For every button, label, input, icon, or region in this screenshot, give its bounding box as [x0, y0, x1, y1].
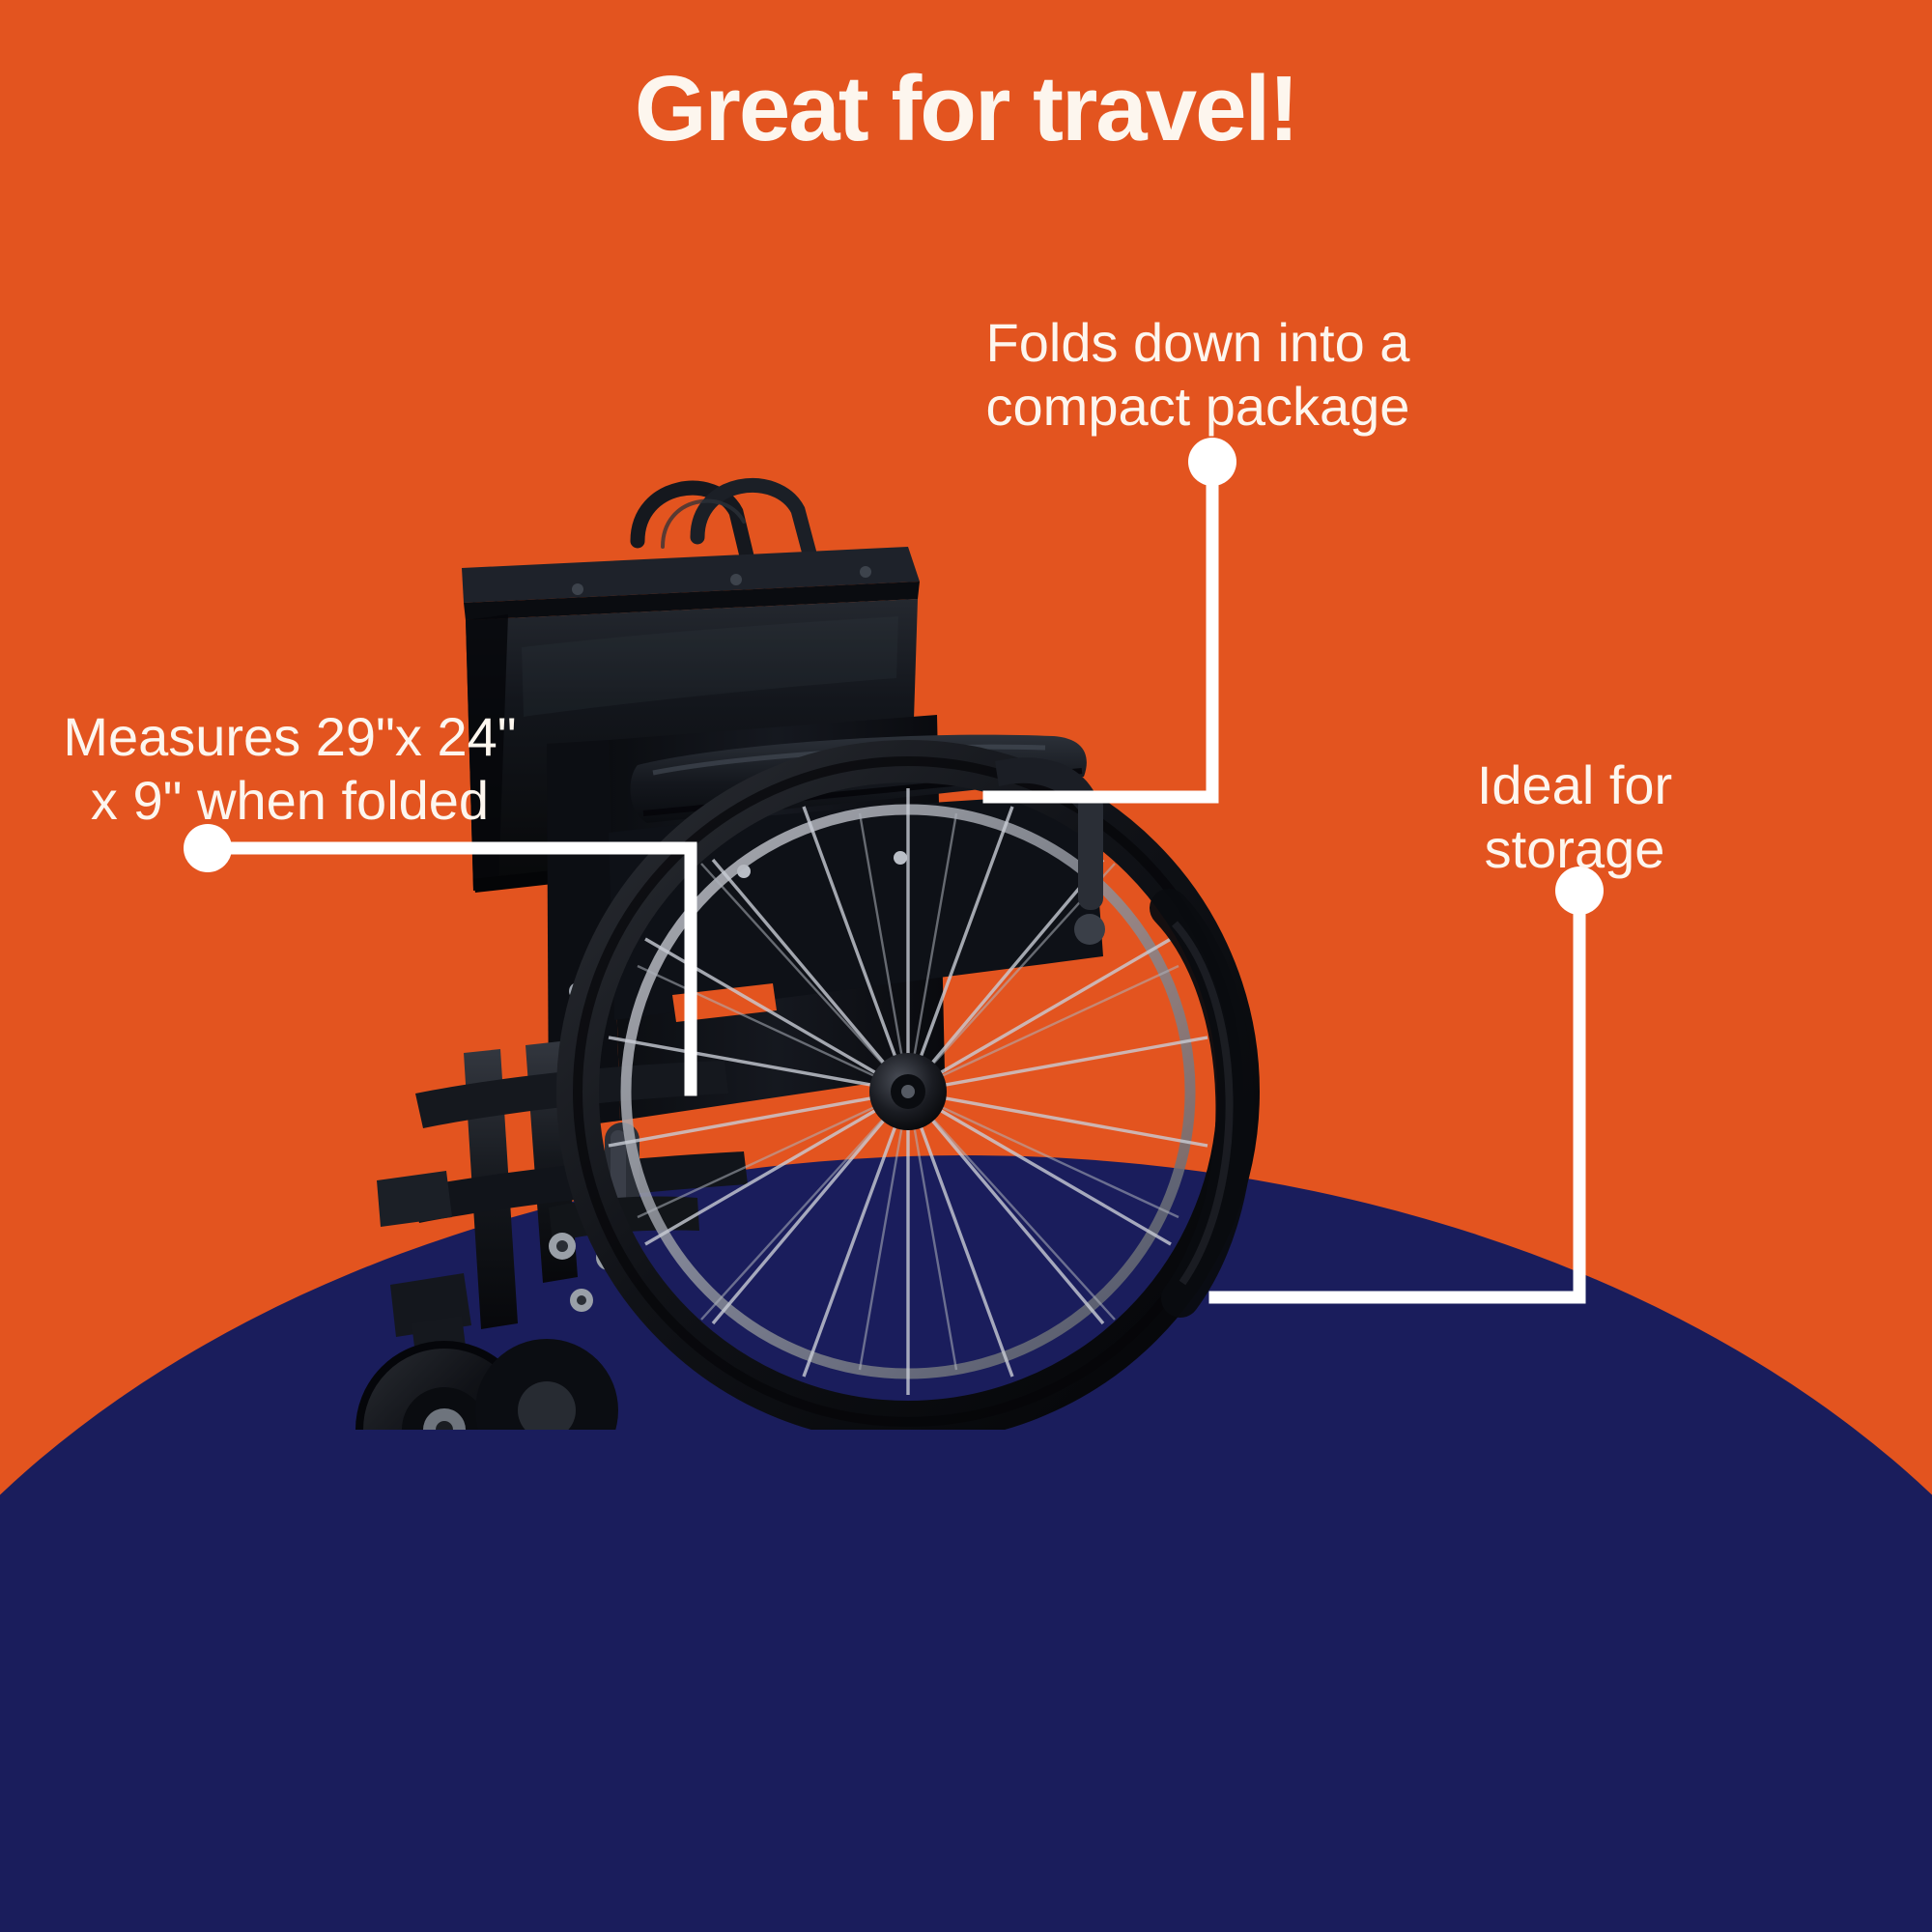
callout-ideal-storage: Ideal for storage	[1401, 753, 1748, 881]
callout-ideal-storage-line1: Ideal for	[1401, 753, 1748, 817]
product-image	[319, 454, 1285, 1430]
callout-measures-line1: Measures 29"x 24"	[19, 705, 560, 769]
callout-folds-down-line1: Folds down into a	[927, 311, 1468, 375]
poster-canvas: Great for travel!	[0, 0, 1932, 1932]
callout-measures-line2: x 9" when folded	[19, 769, 560, 833]
rear-caster	[475, 1339, 618, 1430]
callout-folds-down-line2: compact package	[927, 375, 1468, 439]
page-title: Great for travel!	[0, 58, 1932, 160]
callout-folds-down: Folds down into a compact package	[927, 311, 1468, 439]
callout-measures: Measures 29"x 24" x 9" when folded	[19, 705, 560, 833]
footrest	[377, 1171, 452, 1227]
callout-ideal-storage-line2: storage	[1401, 817, 1748, 881]
